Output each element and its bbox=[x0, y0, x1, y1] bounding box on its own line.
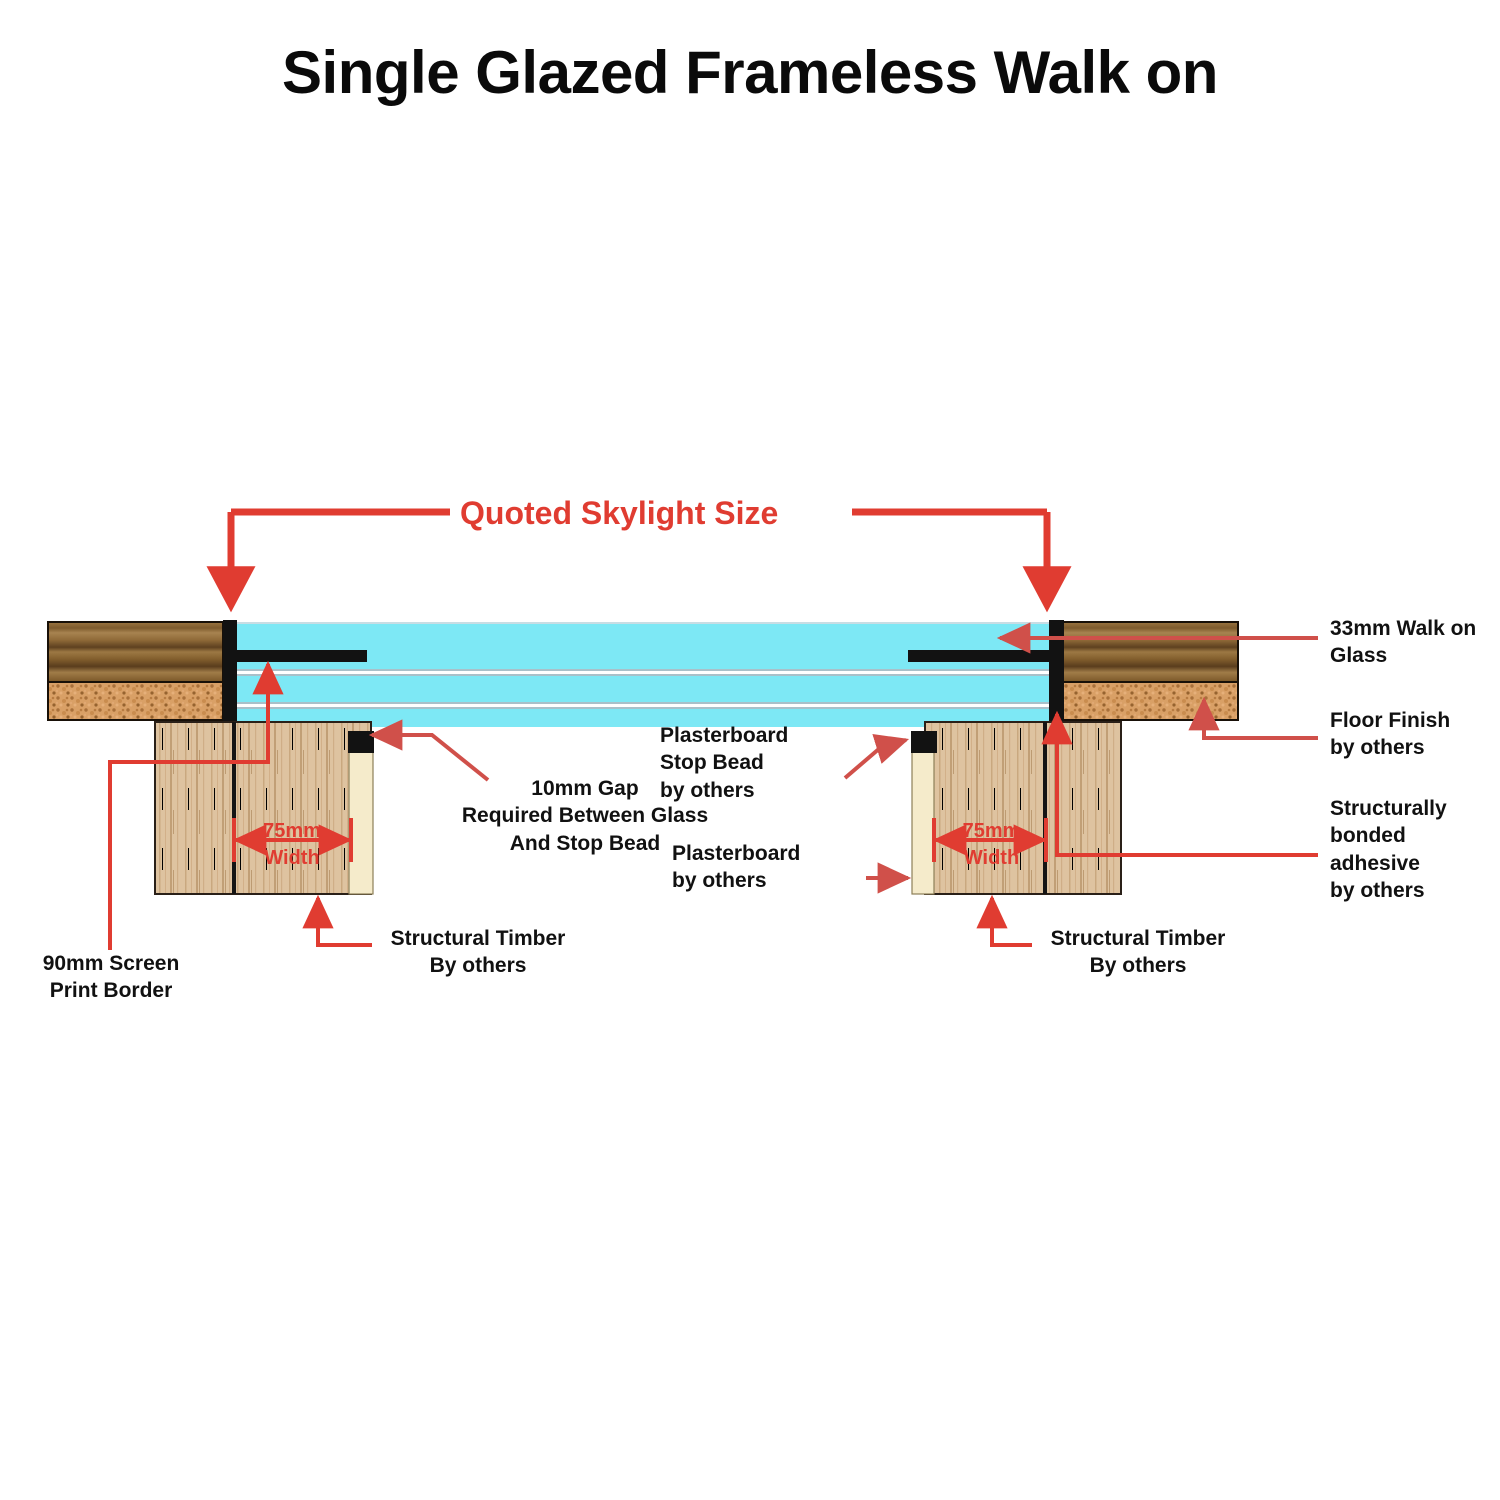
bonded-adhesive-label: Structurally bonded adhesive by others bbox=[1330, 795, 1495, 904]
plasterboard-stop-bead-right bbox=[911, 731, 937, 753]
plasterboard-stop-bead-left bbox=[348, 731, 374, 753]
plasterboard-stop-bead-label: Plasterboard Stop Bead by others bbox=[660, 722, 840, 804]
quoted-skylight-size-label: Quoted Skylight Size bbox=[452, 495, 786, 532]
walk-on-glass-label: 33mm Walk on Glass bbox=[1330, 615, 1495, 670]
structural-timber-right-leader bbox=[992, 898, 1032, 945]
bonded-adhesive-right bbox=[1049, 620, 1064, 722]
width-dimension-right-label: 75mm Width bbox=[934, 818, 1049, 872]
diagram-page: Single Glazed Frameless Walk on bbox=[0, 0, 1500, 1500]
walk-on-glass-assembly bbox=[225, 622, 1060, 727]
structural-timber-left-leader bbox=[318, 898, 372, 945]
structural-timber-left-label: Structural Timber By others bbox=[378, 925, 578, 980]
plasterboard-label: Plasterboard by others bbox=[672, 840, 852, 895]
width-dimension-left-label: 75mm Width bbox=[232, 818, 352, 872]
floor-buildup-left bbox=[48, 622, 223, 720]
bonded-adhesive-left bbox=[223, 620, 237, 722]
floor-finish-label: Floor Finish by others bbox=[1330, 707, 1495, 762]
plasterboard-right bbox=[912, 748, 934, 894]
structural-timber-right-label: Structural Timber By others bbox=[1038, 925, 1238, 980]
gap-note-leader bbox=[372, 735, 488, 780]
screen-print-border-label: 90mm Screen Print Border bbox=[18, 950, 204, 1005]
plasterboard-stop-bead-leader bbox=[845, 740, 906, 778]
